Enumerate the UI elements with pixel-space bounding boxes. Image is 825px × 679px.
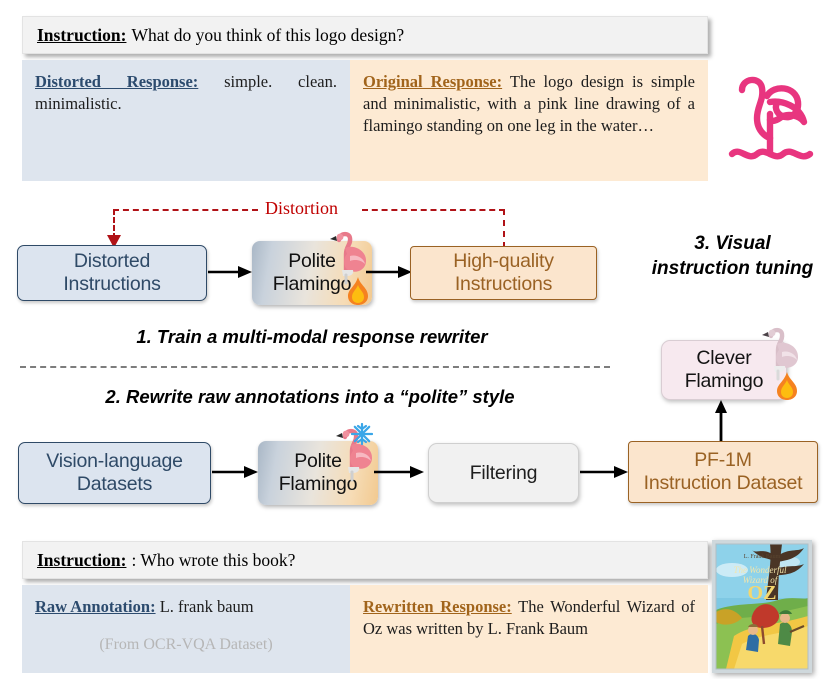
stage2-caption: 2. Rewrite raw annotations into a “polit…: [20, 386, 600, 408]
top-instruction-label: Instruction:: [37, 25, 126, 46]
stage3-caption: 3. Visual instruction tuning: [650, 232, 815, 281]
svg-text:OZ: OZ: [748, 582, 777, 604]
bottom-instruction-label: Instruction:: [37, 550, 126, 571]
svg-text:The Wonderful: The Wonderful: [734, 565, 787, 575]
node-filtering-label: Filtering: [470, 462, 538, 485]
node-vision-language-datasets[interactable]: Vision-language Datasets: [18, 442, 211, 504]
wonderful-wizard-of-oz-book-cover: L. Frank Baum The Wonderful Wizard of OZ: [712, 540, 812, 673]
svg-text:L. Frank Baum: L. Frank Baum: [744, 554, 781, 560]
stage3-caption-line3: tuning: [755, 258, 813, 279]
bottom-raw-annotation-pane: Raw Annotation: L. frank baum (From OCR-…: [22, 585, 350, 673]
node-distorted-instructions-line1: Distorted: [74, 250, 150, 273]
node-pf-1m-instruction-dataset[interactable]: PF-1M Instruction Dataset: [628, 441, 818, 503]
arrow-datasets-to-polite: [212, 465, 258, 479]
arrow-distorted-to-polite: [208, 265, 252, 279]
node-filtering[interactable]: Filtering: [428, 443, 579, 503]
node-vision-language-datasets-line1: Vision-language: [46, 450, 183, 473]
top-instruction-text: What do you think of this logo design?: [126, 25, 404, 46]
node-high-quality-instructions-line2: Instructions: [455, 273, 552, 296]
bottom-rewritten-response-key: Rewritten Response:: [363, 597, 512, 616]
stage3-caption-line2: instruction: [652, 258, 750, 279]
node-clever-flamingo-line2: Flamingo: [685, 370, 764, 393]
node-pf-1m-line2: Instruction Dataset: [644, 472, 803, 495]
node-distorted-instructions[interactable]: Distorted Instructions: [17, 245, 207, 301]
bottom-raw-annotation-key: Raw Annotation:: [35, 597, 156, 616]
arrow-polite-to-highquality: [366, 265, 412, 279]
bottom-instruction-text: : Who wrote this book?: [126, 550, 295, 571]
node-vision-language-datasets-line2: Datasets: [77, 473, 152, 496]
bottom-rewritten-response-pane: Rewritten Response: The Wonderful Wizard…: [350, 585, 708, 673]
arrow-polite-to-filtering: [374, 465, 424, 479]
top-instruction-bar: Instruction: What do you think of this l…: [22, 16, 708, 54]
distortion-line-right-horizontal: [362, 209, 505, 211]
top-original-response-key: Original Response:: [363, 72, 502, 91]
stage1-caption: 1. Train a multi-modal response rewriter: [22, 326, 602, 348]
fire-icon: [346, 276, 370, 310]
fire-icon: [775, 371, 799, 405]
stage-divider: [20, 366, 610, 368]
pink-flamingo-logo-icon: [726, 62, 818, 174]
node-high-quality-instructions[interactable]: High-quality Instructions: [410, 246, 597, 300]
node-distorted-instructions-line2: Instructions: [63, 273, 160, 296]
top-distorted-response-key: Distorted Response:: [35, 72, 198, 91]
node-clever-flamingo-line1: Clever: [696, 347, 751, 370]
bottom-instruction-bar: Instruction: : Who wrote this book?: [22, 541, 708, 579]
top-distorted-response-pane: Distorted Response: simple. clean. minim…: [22, 60, 350, 181]
distortion-label: Distortion: [265, 198, 338, 219]
node-high-quality-instructions-line1: High-quality: [453, 250, 554, 273]
stage3-caption-line1: 3. Visual: [694, 233, 770, 254]
bottom-raw-annotation-source: (From OCR-VQA Dataset): [35, 634, 337, 655]
top-original-response-pane: Original Response: The logo design is si…: [350, 60, 708, 181]
snowflake-icon: [351, 423, 373, 449]
node-pf-1m-line1: PF-1M: [694, 449, 752, 472]
bottom-raw-annotation-body: L. frank baum: [160, 597, 254, 616]
arrow-filtering-to-pf1m: [580, 465, 628, 479]
distortion-line-right-vertical: [503, 209, 505, 248]
distortion-line-left-horizontal: [113, 209, 258, 211]
arrow-pf1m-to-clever-flamingo: [713, 400, 729, 444]
